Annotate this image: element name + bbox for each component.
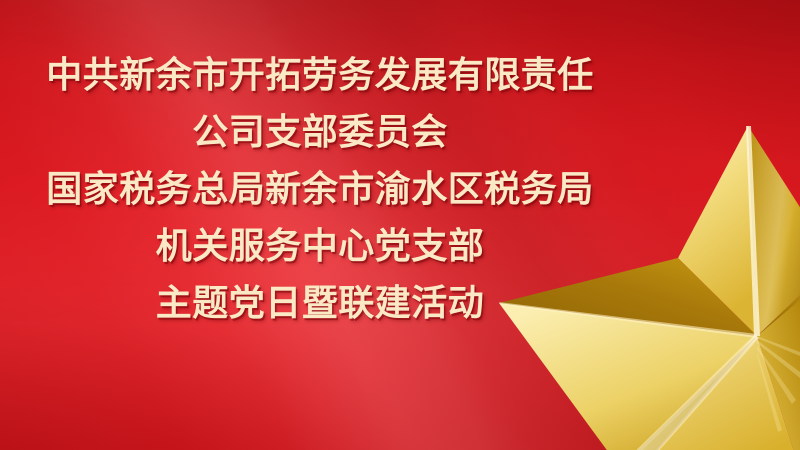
title-line-1: 中共新余市开拓劳务发展有限责任 xyxy=(0,47,640,104)
banner-title-block: 中共新余市开拓劳务发展有限责任 公司支部委员会 国家税务总局新余市渝水区税务局 … xyxy=(0,47,640,332)
banner-canvas: 中共新余市开拓劳务发展有限责任 公司支部委员会 国家税务总局新余市渝水区税务局 … xyxy=(0,0,800,450)
title-line-5: 主题党日暨联建活动 xyxy=(0,275,640,332)
title-line-3: 国家税务总局新余市渝水区税务局 xyxy=(0,161,640,218)
title-line-4: 机关服务中心党支部 xyxy=(0,218,640,275)
title-line-2: 公司支部委员会 xyxy=(0,104,640,161)
